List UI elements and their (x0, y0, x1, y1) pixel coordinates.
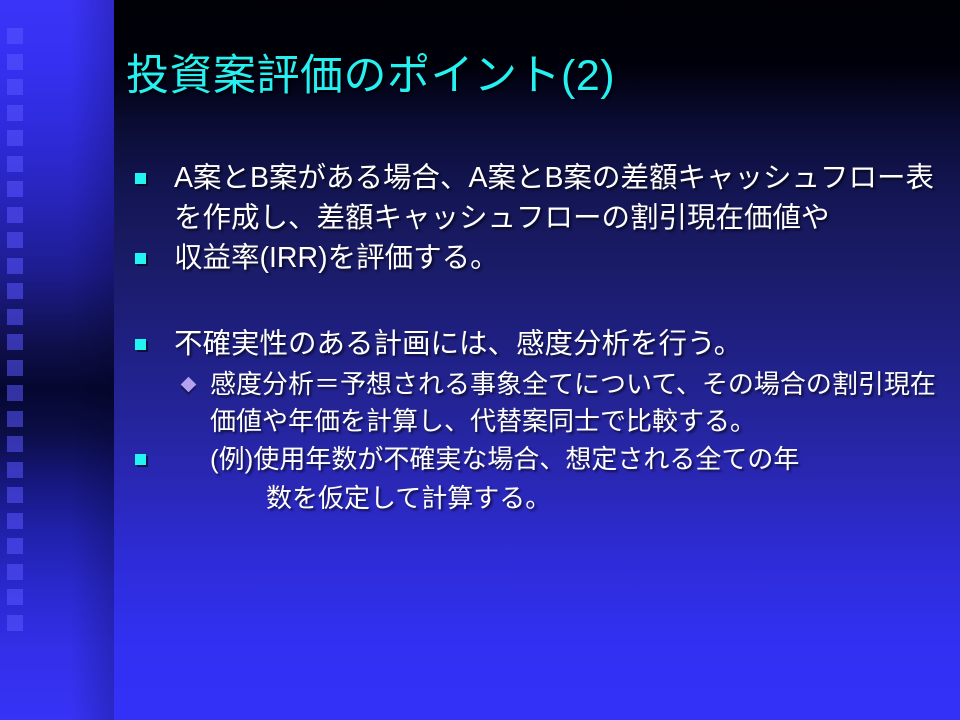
sidebar-square (7, 79, 23, 95)
bullet-text-2: 収益率(IRR)を評価する。 (174, 238, 946, 278)
sidebar-square (7, 207, 23, 223)
bullet-text-4-line1: (例)使用年数が不確実な場合、想定される全ての年 (210, 444, 799, 474)
slide-title: 投資案評価のポイント(2) (126, 49, 926, 103)
bullet-text-1: A案とB案がある場合、A案とB案の差額キャッシュフロー表を作成し、差額キャッシュ… (174, 158, 946, 238)
square-bullet-icon (135, 253, 146, 264)
sidebar-square (7, 181, 23, 197)
sidebar-square (7, 54, 23, 70)
bullet-item-2: 収益率(IRR)を評価する。 (126, 238, 946, 278)
square-bullet-icon (135, 454, 146, 465)
sub-bullet-text-1: 感度分析＝予想される事象全てについて、その場合の割引現在価値や年価を計算し、代替… (210, 366, 946, 440)
sidebar-square (7, 156, 23, 172)
slide-body: A案とB案がある場合、A案とB案の差額キャッシュフロー表を作成し、差額キャッシュ… (126, 158, 946, 518)
sidebar-square (7, 513, 23, 529)
sidebar-square (7, 309, 23, 325)
sidebar-square (7, 28, 23, 44)
vertical-spacer (126, 278, 946, 324)
square-bullet-icon (135, 173, 146, 184)
sidebar-square (7, 462, 23, 478)
bullet-text-4: (例)使用年数が不確実な場合、想定される全ての年 数を仮定して計算する。 (210, 440, 946, 518)
sidebar-square (7, 589, 23, 605)
bullet-text-4-line2: 数を仮定して計算する。 (266, 479, 946, 518)
sidebar-square (7, 130, 23, 146)
sidebar-square (7, 105, 23, 121)
square-bullet-icon (135, 339, 146, 350)
diamond-bullet-icon (181, 377, 197, 393)
bullet-item-1: A案とB案がある場合、A案とB案の差額キャッシュフロー表を作成し、差額キャッシュ… (126, 158, 946, 238)
sidebar-square (7, 334, 23, 350)
bullet-item-4: (例)使用年数が不確実な場合、想定される全ての年 数を仮定して計算する。 (126, 440, 946, 518)
sidebar-square (7, 487, 23, 503)
sidebar-square (7, 232, 23, 248)
sidebar-square (7, 385, 23, 401)
presentation-slide: 投資案評価のポイント(2) A案とB案がある場合、A案とB案の差額キャッシュフロ… (0, 0, 960, 720)
sidebar-square (7, 615, 23, 631)
sub-bullet-item-1: 感度分析＝予想される事象全てについて、その場合の割引現在価値や年価を計算し、代替… (126, 366, 946, 440)
sidebar-square (7, 411, 23, 427)
sidebar-square (7, 564, 23, 580)
sidebar-square (7, 436, 23, 452)
sidebar-square (7, 538, 23, 554)
sidebar-square (7, 360, 23, 376)
left-decorative-sidebar (0, 0, 114, 720)
sidebar-square (7, 283, 23, 299)
sidebar-shading (70, 0, 114, 720)
bullet-text-3: 不確実性のある計画には、感度分析を行う。 (174, 324, 946, 364)
bullet-item-3: 不確実性のある計画には、感度分析を行う。 (126, 324, 946, 364)
sidebar-square (7, 258, 23, 274)
